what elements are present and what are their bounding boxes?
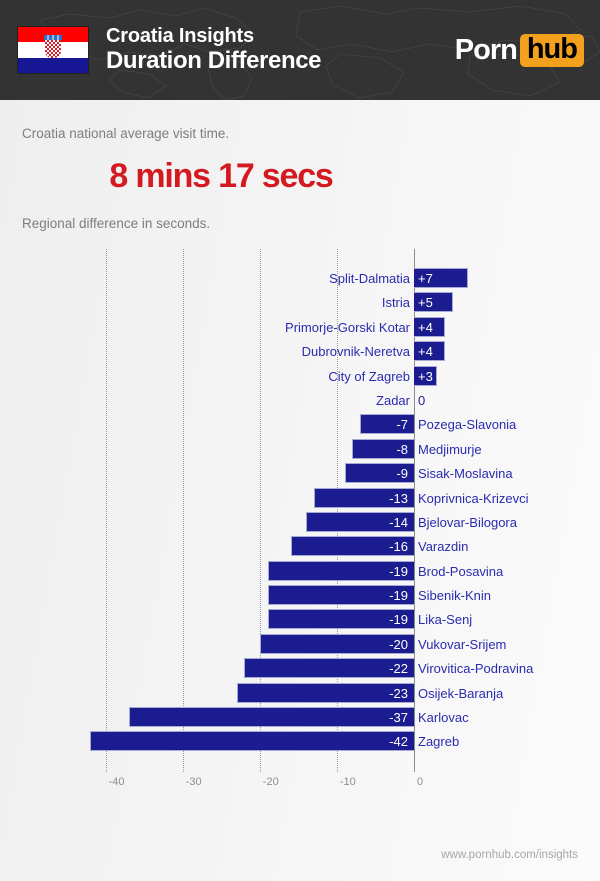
national-average-caption: Croatia national average visit time. xyxy=(22,126,600,141)
bar-value-label: -19 xyxy=(389,610,414,629)
chart-subtitle: Regional difference in seconds. xyxy=(22,216,600,231)
x-axis-tick--10: -10 xyxy=(340,776,356,788)
bar-value-label: +3 xyxy=(418,367,433,386)
logo-text-porn: Porn xyxy=(455,34,517,67)
bar-value-label: -7 xyxy=(396,415,414,434)
bar-category-label: Brod-Posavina xyxy=(418,562,503,581)
bar-category-label: Istria xyxy=(382,293,410,312)
bar-value-label: -9 xyxy=(396,464,414,483)
bar-value-label: +5 xyxy=(418,293,433,312)
bar-value-label: 0 xyxy=(418,391,425,410)
chart-row: +4Primorje-Gorski Kotar xyxy=(0,317,600,341)
bar-category-label: Zagreb xyxy=(418,732,459,751)
bar-category-label: Bjelovar-Bilogora xyxy=(418,513,517,532)
bar-category-label: Sibenik-Knin xyxy=(418,586,491,605)
page-title-primary: Croatia Insights xyxy=(106,26,321,48)
chart-row: +5Istria xyxy=(0,292,600,316)
bar-category-label: Split-Dalmatia xyxy=(329,269,410,288)
chart-row: -7Pozega-Slavonia xyxy=(0,414,600,438)
bar-category-label: Pozega-Slavonia xyxy=(418,415,516,434)
bar-category-label: Koprivnica-Krizevci xyxy=(418,489,529,508)
page-title-secondary: Duration Difference xyxy=(106,48,321,74)
bar-category-label: Osijek-Baranja xyxy=(418,684,503,703)
bar-value-label: -20 xyxy=(389,635,414,654)
bar-category-label: Medjimurje xyxy=(418,440,482,459)
chart-row: +7Split-Dalmatia xyxy=(0,268,600,292)
header-title-block: Croatia Insights Duration Difference xyxy=(106,26,321,74)
x-axis-tick--20: -20 xyxy=(263,776,279,788)
chart-bar-rows: +7Split-Dalmatia+5Istria+4Primorje-Gorsk… xyxy=(0,268,600,756)
bar-value-label: -13 xyxy=(389,489,414,508)
x-axis-tick-0: 0 xyxy=(417,776,423,788)
bar-value-label: -42 xyxy=(389,732,414,751)
intro-section: Croatia national average visit time. 8 m… xyxy=(0,100,600,231)
bar-category-label: Dubrovnik-Neretva xyxy=(302,342,410,361)
bar-value-label: -22 xyxy=(389,659,414,678)
chart-row: -9Sisak-Moslavina xyxy=(0,463,600,487)
bar-category-label: Zadar xyxy=(376,391,410,410)
pornhub-logo[interactable]: Porn hub xyxy=(455,34,584,67)
chart-row: -20Vukovar-Srijem xyxy=(0,634,600,658)
logo-text-hub: hub xyxy=(520,34,584,67)
bar-category-label: Vukovar-Srijem xyxy=(418,635,506,654)
bar-category-label: Karlovac xyxy=(418,708,469,727)
chart-row: -13Koprivnica-Krizevci xyxy=(0,488,600,512)
x-axis-labels: -40-30-20-100 xyxy=(0,776,600,796)
bar-category-label: Sisak-Moslavina xyxy=(418,464,513,483)
page-header: Croatia Insights Duration Difference Por… xyxy=(0,0,600,100)
regional-difference-chart: -40-30-20-100 +7Split-Dalmatia+5Istria+4… xyxy=(0,249,600,809)
bar-category-label: Lika-Senj xyxy=(418,610,472,629)
chart-row: 0Zadar xyxy=(0,390,600,414)
national-average-value: 8 mins 17 secs xyxy=(22,157,600,196)
chart-row: -37Karlovac xyxy=(0,707,600,731)
bar-category-label: Primorje-Gorski Kotar xyxy=(285,318,410,337)
chart-row: -19Sibenik-Knin xyxy=(0,585,600,609)
chart-row: -14Bjelovar-Bilogora xyxy=(0,512,600,536)
chart-row: -23Osijek-Baranja xyxy=(0,683,600,707)
bar-value-label: -16 xyxy=(389,537,414,556)
x-axis-tick--40: -40 xyxy=(109,776,125,788)
croatia-flag-icon xyxy=(18,27,88,73)
bar-value-label: -14 xyxy=(389,513,414,532)
chart-row: +4Dubrovnik-Neretva xyxy=(0,341,600,365)
chart-row: -19Brod-Posavina xyxy=(0,561,600,585)
bar-value-label: +4 xyxy=(418,318,433,337)
bar-value-label: -19 xyxy=(389,586,414,605)
bar-value-label: +4 xyxy=(418,342,433,361)
chart-row: +3City of Zagreb xyxy=(0,366,600,390)
chart-bar[interactable] xyxy=(129,707,414,727)
bar-value-label: +7 xyxy=(418,269,433,288)
bar-value-label: -19 xyxy=(389,562,414,581)
bar-value-label: -8 xyxy=(396,440,414,459)
bar-category-label: Varazdin xyxy=(418,537,468,556)
footer-url[interactable]: www.pornhub.com/insights xyxy=(0,849,600,861)
croatia-coat-of-arms-icon xyxy=(44,35,62,59)
chart-bar[interactable] xyxy=(90,731,414,751)
bar-category-label: City of Zagreb xyxy=(328,367,410,386)
chart-row: -19Lika-Senj xyxy=(0,609,600,633)
bar-category-label: Virovitica-Podravina xyxy=(418,659,533,678)
chart-row: -22Virovitica-Podravina xyxy=(0,658,600,682)
chart-bar[interactable] xyxy=(237,683,414,703)
x-axis-tick--30: -30 xyxy=(186,776,202,788)
chart-row: -16Varazdin xyxy=(0,536,600,560)
bar-value-label: -37 xyxy=(389,708,414,727)
chart-row: -42Zagreb xyxy=(0,731,600,755)
chart-row: -8Medjimurje xyxy=(0,439,600,463)
bar-value-label: -23 xyxy=(389,684,414,703)
